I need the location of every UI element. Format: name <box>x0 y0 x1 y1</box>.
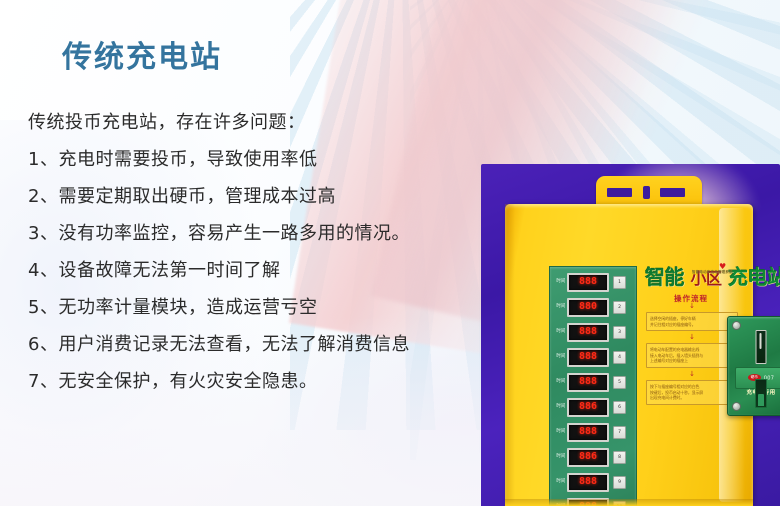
list-item-number: 2、 <box>28 182 58 208</box>
display-row: 时间 888 5 <box>550 370 636 394</box>
list-item: 1、 充电时需要投币，导致使用率低 <box>28 145 518 171</box>
list-item: 2、 需要定期取出硬币，管理成本过高 <box>28 182 518 208</box>
list-lead: 传统投币充电站，存在许多问题： <box>28 108 518 134</box>
row-label: 时间 <box>550 305 565 310</box>
list-item-number: 5、 <box>28 293 58 319</box>
row-label: 时间 <box>550 430 565 435</box>
port-button[interactable]: 7 <box>613 426 626 439</box>
flow-arrow-icon: ↓ <box>646 303 738 310</box>
led-readout: 880 <box>567 298 609 317</box>
hood-vent-right <box>660 188 685 197</box>
list-item: 3、 没有功率监控，容易产生一路多用的情况。 <box>28 219 518 245</box>
station-base-shadow <box>505 499 753 506</box>
led-readout: 888 <box>567 323 609 342</box>
port-button[interactable]: 2 <box>613 301 626 314</box>
list-item-number: 6、 <box>28 330 58 356</box>
display-row: 时间 888 4 <box>550 345 636 369</box>
operating-flow: ↓ 选择空闲的插座，停好车辆 并记住相对应的插座编号。 ↓ 将电动车配置的充电器… <box>646 300 738 405</box>
port-button[interactable]: 4 <box>613 351 626 364</box>
led-digits: 888 <box>579 327 597 337</box>
port-button[interactable]: 9 <box>613 476 626 489</box>
list-item-number: 4、 <box>28 256 58 282</box>
display-row: 时间 886 8 <box>550 445 636 469</box>
list-item-text: 用户消费记录无法查看，无法了解消费信息 <box>58 330 410 356</box>
port-button[interactable]: 1 <box>613 276 626 289</box>
charging-station-photo: 时间 888 1 时间 880 2 时间 888 3 时间 888 4 <box>481 164 780 506</box>
display-row: 时间 888 3 <box>550 320 636 344</box>
flow-arrow-icon: ↓ <box>646 334 738 341</box>
heart-icon: ♥ <box>719 263 726 271</box>
port-button[interactable]: 3 <box>613 326 626 339</box>
led-readout: 888 <box>567 473 609 492</box>
list-item: 5、 无功率计量模块，造成运营亏空 <box>28 293 518 319</box>
port-button[interactable]: 8 <box>613 451 626 464</box>
led-readout: 888 <box>567 423 609 442</box>
headline-title: 智能电动车充电管理系统 ♥ 智能 小区 充电站 <box>645 266 769 290</box>
led-readout: 888 <box>567 373 609 392</box>
station-body-panel: 时间 888 1 时间 880 2 时间 888 3 时间 888 4 <box>505 204 753 506</box>
led-digits: 888 <box>579 377 597 387</box>
display-row: 时间 888 9 <box>550 470 636 494</box>
slide-root: 传统充电站 传统投币充电站，存在许多问题： 1、 充电时需要投币，导致使用率低 … <box>0 0 780 506</box>
flow-step-line: 上述编号对应的插座上 <box>650 358 734 364</box>
list-item-text: 需要定期取出硬币，管理成本过高 <box>58 182 336 208</box>
led-digits: 886 <box>579 402 597 412</box>
flow-step-box: 按下与插座编号相对应的白色 按键后，投币启动十秒，显示屏 出现充电间计费时。 <box>646 380 738 405</box>
flow-step-line: 并记住相对应的插座编号。 <box>650 322 734 328</box>
row-label: 时间 <box>550 355 565 360</box>
flow-step-box: 选择空闲的插座，停好车辆 并记住相对应的插座编号。 <box>646 312 738 331</box>
headline-part-1: 智能 <box>645 266 684 288</box>
list-item-number: 3、 <box>28 219 58 245</box>
page-title: 传统充电站 <box>62 32 222 76</box>
headline-part-3: 充电站 <box>728 266 780 288</box>
hood-vent-middle <box>643 186 650 199</box>
list-item-text: 无安全保护，有火灾安全隐患。 <box>58 367 317 393</box>
led-readout: 888 <box>567 348 609 367</box>
list-item-text: 没有功率监控，容易产生一路多用的情况。 <box>58 219 410 245</box>
led-readout: 886 <box>567 448 609 467</box>
display-row: 时间 888 7 <box>550 420 636 444</box>
screw-icon <box>732 321 741 330</box>
list-item: 6、 用户消费记录无法查看，无法了解消费信息 <box>28 330 518 356</box>
list-item-number: 1、 <box>28 145 58 171</box>
flow-step-box: 将电动车配置的充电器输出线 接入电动车后，插入墙头插到与 上述编号对应的插座上 <box>646 343 738 368</box>
flow-arrow-icon: ↓ <box>646 371 738 378</box>
list-item-text: 无功率计量模块，造成运营亏空 <box>58 293 317 319</box>
list-item-text: 充电时需要投币，导致使用率低 <box>58 145 317 171</box>
problem-list: 传统投币充电站，存在许多问题： 1、 充电时需要投币，导致使用率低 2、 需要定… <box>28 108 518 404</box>
headline-micro-text: 智能电动车充电管理系统 <box>692 261 733 283</box>
row-label: 时间 <box>550 455 565 460</box>
led-digits: 888 <box>579 277 597 287</box>
list-item-text: 设备故障无法第一时间了解 <box>58 256 280 282</box>
row-label: 时间 <box>550 280 565 285</box>
coin-acceptor[interactable]: 硬币007 充电站专用 <box>727 316 780 416</box>
port-button[interactable]: 6 <box>613 401 626 414</box>
coin-slot[interactable] <box>756 330 767 364</box>
display-row: 时间 880 2 <box>550 295 636 319</box>
led-digits: 888 <box>579 427 597 437</box>
list-item: 4、 设备故障无法第一时间了解 <box>28 256 518 282</box>
list-item: 7、 无安全保护，有火灾安全隐患。 <box>28 367 518 393</box>
display-row: 时间 888 1 <box>550 270 636 294</box>
led-display-board: 时间 888 1 时间 880 2 时间 888 3 时间 888 4 <box>549 266 637 506</box>
display-row: 时间 886 6 <box>550 395 636 419</box>
row-label: 时间 <box>550 480 565 485</box>
text-column: 传统充电站 传统投币充电站，存在许多问题： 1、 充电时需要投币，导致使用率低 … <box>0 0 520 506</box>
coin-return-chute[interactable] <box>755 379 767 408</box>
screw-icon <box>732 402 741 411</box>
hood-vent-left <box>607 188 632 197</box>
led-digits: 888 <box>579 352 597 362</box>
led-readout: 888 <box>567 273 609 292</box>
flow-step-line: 出现充电间计费时。 <box>650 395 734 401</box>
led-digits: 888 <box>579 477 597 487</box>
row-label: 时间 <box>550 330 565 335</box>
row-label: 时间 <box>550 380 565 385</box>
led-digits: 880 <box>579 302 597 312</box>
list-item-number: 7、 <box>28 367 58 393</box>
station-headline: 智能电动车充电管理系统 ♥ 智能 小区 充电站 操作流程 <box>645 266 769 304</box>
row-label: 时间 <box>550 405 565 410</box>
port-button[interactable]: 5 <box>613 376 626 389</box>
led-digits: 886 <box>579 452 597 462</box>
led-readout: 886 <box>567 398 609 417</box>
